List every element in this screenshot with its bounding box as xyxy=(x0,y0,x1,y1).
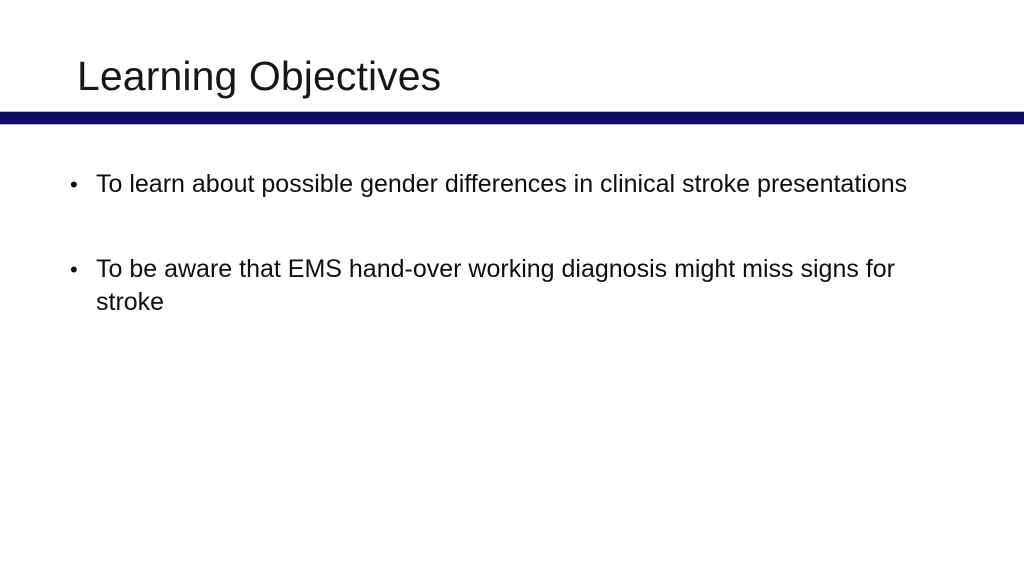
slide: Learning Objectives • To learn about pos… xyxy=(0,0,1024,576)
title-divider-bar xyxy=(0,111,1024,125)
slide-body: • To learn about possible gender differe… xyxy=(70,168,950,319)
bullet-point-icon: • xyxy=(70,168,96,201)
list-item-text: To be aware that EMS hand-over working d… xyxy=(96,253,926,319)
list-item: • To be aware that EMS hand-over working… xyxy=(70,253,950,319)
list-item-text: To learn about possible gender differenc… xyxy=(96,168,926,201)
bullet-point-icon: • xyxy=(70,253,96,286)
list-item: • To learn about possible gender differe… xyxy=(70,168,950,201)
page-title: Learning Objectives xyxy=(77,52,441,100)
